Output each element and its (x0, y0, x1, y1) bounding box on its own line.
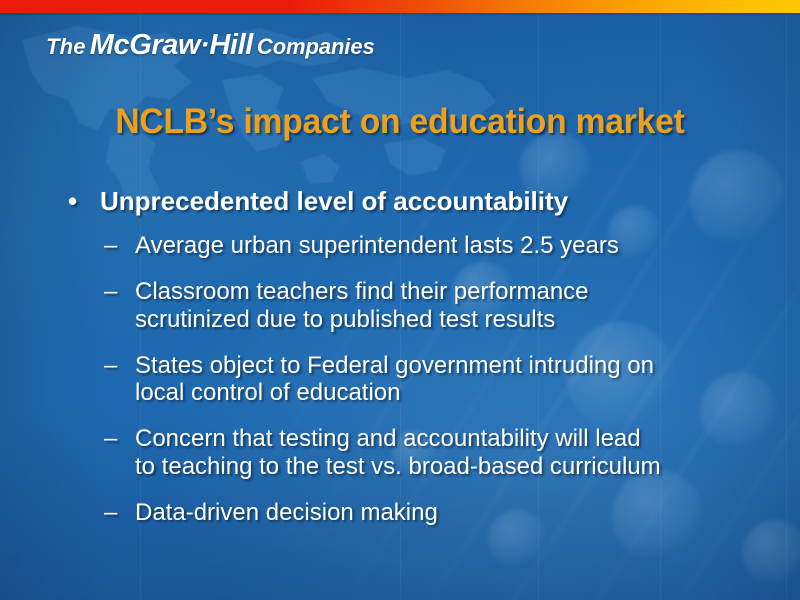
bullet-marker-dash: – (104, 278, 117, 306)
bullet-level2: – Concern that testing and accountabilit… (0, 425, 800, 481)
bullet-text-line1: Classroom teachers find their performanc… (135, 278, 778, 306)
logo-word-the: The (46, 34, 86, 59)
slide-title: NCLB’s impact on education market (16, 104, 784, 141)
bullet-marker-dash: – (104, 352, 117, 380)
top-accent-bar-shadow (0, 13, 800, 16)
bullet-text-line1: Concern that testing and accountability … (135, 425, 778, 453)
bullet-marker-dash: – (104, 232, 117, 260)
bullet-text: Data-driven decision making (135, 499, 778, 527)
bullet-text: Unprecedented level of accountability (100, 186, 568, 216)
logo-word-companies: Companies (257, 34, 375, 59)
top-accent-bar (0, 0, 800, 13)
bullet-text: Average urban superintendent lasts 2.5 y… (135, 232, 778, 260)
bullet-marker-dash: – (104, 499, 117, 527)
slide-body: • Unprecedented level of accountability … (0, 186, 800, 545)
bullet-text-line2: scrutinized due to published test result… (135, 306, 778, 334)
bullet-text-line2: to teaching to the test vs. broad-based … (135, 453, 778, 481)
bullet-level1: • Unprecedented level of accountability (0, 186, 800, 216)
logo-word-mcgraw-hill: McGraw·Hill (90, 29, 253, 61)
bullet-level2: – Classroom teachers find their performa… (0, 278, 800, 334)
bullet-level2: – Average urban superintendent lasts 2.5… (0, 232, 800, 260)
presentation-slide: TheMcGraw·HillCompanies NCLB’s impact on… (0, 0, 800, 600)
bullet-text-line1: States object to Federal government intr… (135, 352, 778, 380)
bullet-level2: – States object to Federal government in… (0, 352, 800, 408)
bullet-marker-dot: • (68, 186, 77, 216)
mcgraw-hill-logo: TheMcGraw·HillCompanies (46, 31, 375, 60)
bullet-text-line2: local control of education (135, 379, 778, 407)
bullet-level2: – Data-driven decision making (0, 499, 800, 527)
bullet-marker-dash: – (104, 425, 117, 453)
